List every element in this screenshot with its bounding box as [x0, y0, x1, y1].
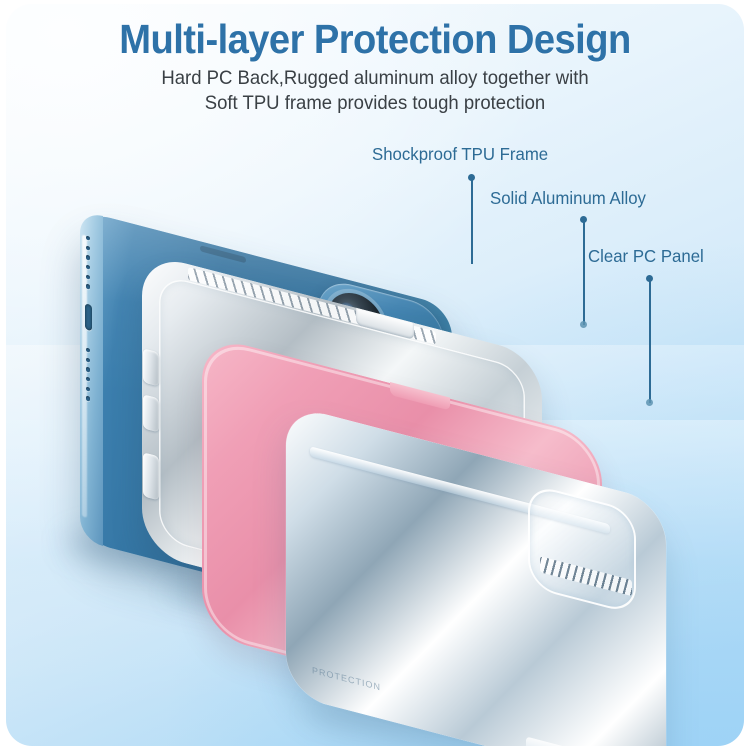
subtitle-line-2: Soft TPU frame provides tough protection: [19, 91, 732, 116]
callout-label-tpu-frame: Shockproof TPU Frame: [372, 144, 548, 165]
power-button-cutout: [143, 452, 159, 500]
leader-dot-pc-panel-top: [646, 275, 653, 282]
speaker-grille-lower: [86, 348, 94, 403]
callout-label-aluminum-alloy: Solid Aluminum Alloy: [490, 188, 646, 209]
page-subtitle: Hard PC Back,Rugged aluminum alloy toget…: [19, 66, 732, 116]
leader-dot-aluminum-top: [580, 216, 587, 223]
leader-dot-tpu-frame-top: [468, 174, 475, 181]
subtitle-line-1: Hard PC Back,Rugged aluminum alloy toget…: [19, 66, 732, 91]
speaker-grille-upper: [86, 236, 94, 291]
leader-line-tpu-frame: [471, 178, 473, 264]
page-title: Multi-layer Protection Design: [26, 16, 724, 63]
callout-label-pc-panel: Clear PC Panel: [588, 246, 704, 267]
volume-down-cutout: [143, 394, 159, 432]
usb-c-port: [85, 303, 92, 331]
phone-top-mic: [200, 245, 246, 263]
leader-line-pc-panel: [649, 279, 651, 403]
leader-line-aluminum: [583, 220, 585, 325]
volume-up-cutout: [143, 348, 159, 386]
leader-dot-aluminum-end: [580, 321, 587, 328]
product-infographic: PROTECTION Multi-layer Protection Design…: [0, 0, 750, 750]
